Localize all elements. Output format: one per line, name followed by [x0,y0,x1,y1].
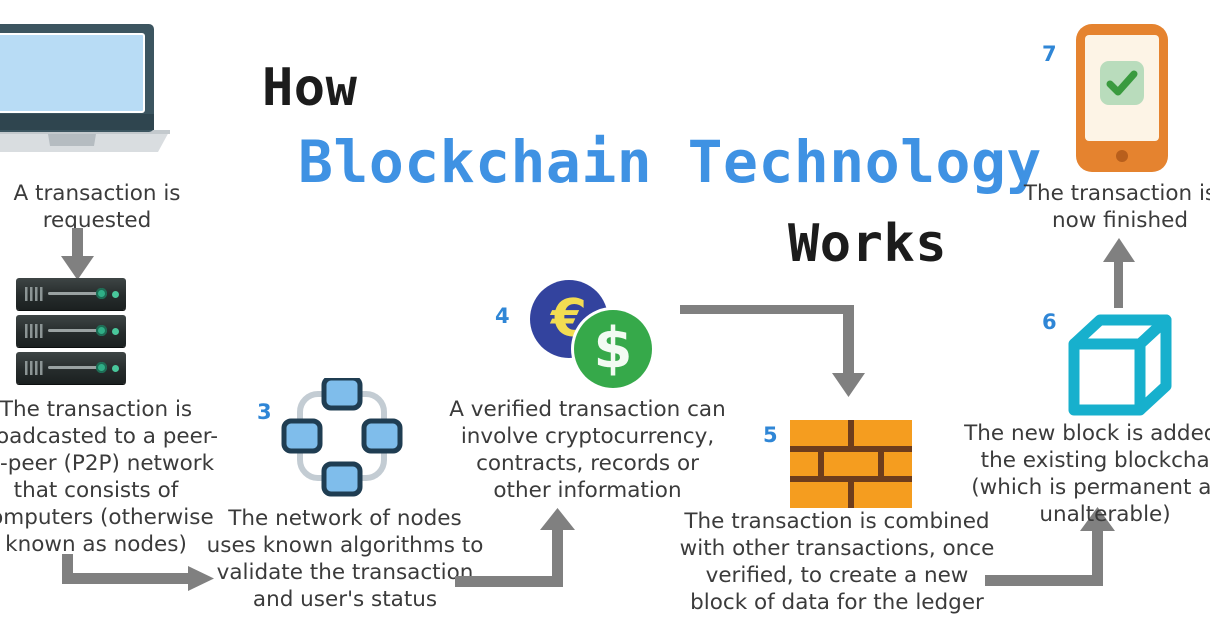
coins-icon: € $ [530,280,654,388]
phone-home-button [1116,150,1128,162]
server-led-secondary [112,328,119,335]
check-icon [1100,61,1144,105]
title-line-works: Works [788,214,947,274]
step-3-text: The network of nodes uses known algorith… [205,505,485,613]
server-led-secondary [112,365,119,372]
step-6-number: 6 [1042,312,1057,333]
step-3-number: 3 [257,402,272,423]
step-2-text: The transaction is broadcasted to a peer… [0,396,226,558]
brick-mortar-line [818,452,824,476]
arrow-step6-to-step7 [1098,234,1142,308]
server-stack-icon [16,278,126,388]
step-6-text: The new block is added to the existing b… [960,420,1210,528]
node-network-icon [278,378,406,498]
step-1-text: A transaction is requested [0,180,212,234]
infographic-canvas: How Blockchain Technology Works A transa… [0,0,1210,640]
step-4-number: 4 [495,306,510,327]
check-badge [1100,61,1144,105]
arrow-step3-to-step4 [455,508,585,592]
cube-icon [1068,314,1172,418]
phone-check-icon [1076,24,1168,172]
brick-mortar-line [848,482,854,508]
step-7-text: The transaction is now finished [1000,180,1210,234]
step-5-number: 5 [763,425,778,446]
server-led-primary [96,288,107,299]
step-5-text: The transaction is combined with other t… [672,508,1002,616]
server-led-primary [96,362,107,373]
step-4-text: A verified transaction can involve crypt… [440,396,735,504]
server-led-primary [96,325,107,336]
server-vents-icon [25,287,43,301]
phone-screen [1085,35,1159,141]
server-vents-icon [25,324,43,338]
brick-mortar-line [848,420,854,446]
brick-wall-icon [790,420,912,508]
server-bar [48,366,98,369]
server-bar [48,292,98,295]
step-7-number: 7 [1042,44,1057,65]
server-unit [16,315,126,347]
server-vents-icon [25,361,43,375]
server-bar [48,329,98,332]
server-unit [16,352,126,384]
arrow-step4-to-step5 [680,305,870,405]
arrow-step1-to-step2 [58,228,102,284]
arrow-step2-to-step3 [62,554,222,608]
title-line-blockchain-technology: Blockchain Technology [298,128,1042,196]
brick-mortar-line [878,452,884,476]
server-led-secondary [112,291,119,298]
server-unit [16,278,126,310]
laptop-icon [0,18,172,158]
title-line-how: How [262,58,357,118]
brick-mortar-line [790,446,912,452]
dollar-coin-icon: $ [574,310,652,388]
